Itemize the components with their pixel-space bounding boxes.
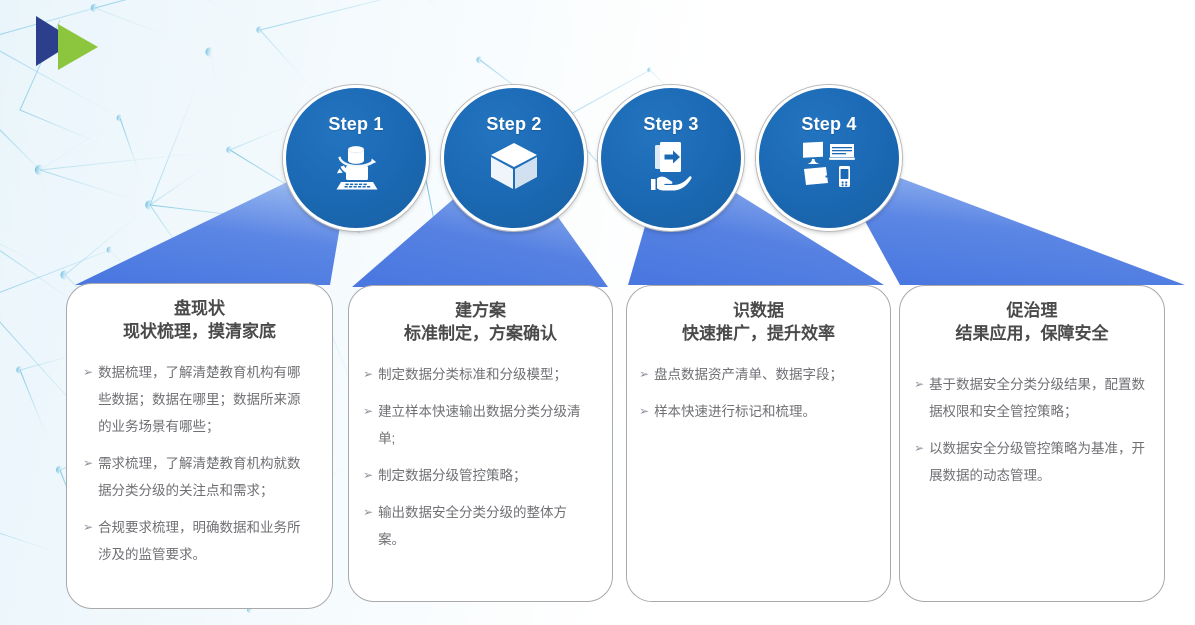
card-title: 盘现状 — [77, 298, 322, 320]
arrow-bullet-icon: ➢ — [363, 462, 373, 489]
multi-devices-icon — [799, 139, 859, 193]
bullet-text: 基于数据安全分类分级结果，配置数据权限和安全管控策略； — [929, 371, 1146, 425]
bullet-text: 以数据安全分级管控策略为基准，开展数据的动态管理。 — [929, 435, 1146, 489]
list-item: ➢ 盘点数据资产清单、数据字段； — [639, 361, 876, 388]
arrow-bullet-icon: ➢ — [363, 398, 373, 425]
step-card-3: 识数据 快速推广，提升效率 ➢ 盘点数据资产清单、数据字段； ➢ 样本快速进行标… — [626, 285, 891, 602]
step-card-2: 建方案 标准制定，方案确认 ➢ 制定数据分类标准和分级模型； ➢ 建立样本快速输… — [348, 285, 613, 602]
list-item: ➢ 数据梳理，了解清楚教育机构有哪些数据；数据在哪里；数据所来源的业务场景有哪些… — [83, 359, 310, 440]
step-circle-4[interactable]: Step 4 — [756, 85, 902, 231]
list-item: ➢ 以数据安全分级管控策略为基准，开展数据的动态管理。 — [914, 435, 1146, 489]
step-label: Step 4 — [801, 114, 856, 135]
bullet-text: 需求梳理，了解清楚教育机构就数据分类分级的关注点和需求； — [98, 450, 310, 504]
list-item: ➢ 需求梳理，了解清楚教育机构就数据分类分级的关注点和需求； — [83, 450, 310, 504]
step-circle-3[interactable]: Step 3 — [598, 85, 744, 231]
card-title: 促治理 — [910, 300, 1154, 322]
list-item: ➢ 建立样本快速输出数据分类分级清单; — [363, 398, 594, 452]
step-label: Step 1 — [328, 114, 383, 135]
card-bullet-list: ➢ 基于数据安全分类分级结果，配置数据权限和安全管控策略； ➢ 以数据安全分级管… — [900, 371, 1164, 489]
arrow-bullet-icon: ➢ — [83, 514, 93, 541]
slide-canvas: Step 1 Ste — [0, 0, 1195, 625]
bullet-text: 制定数据分类标准和分级模型； — [378, 361, 594, 388]
list-item: ➢ 制定数据分级管控策略； — [363, 462, 594, 489]
list-item: ➢ 基于数据安全分类分级结果，配置数据权限和安全管控策略； — [914, 371, 1146, 425]
arrow-bullet-icon: ➢ — [914, 371, 924, 398]
bullet-text: 输出数据安全分类分级的整体方案。 — [378, 499, 594, 553]
step-circle-2[interactable]: Step 2 — [441, 85, 587, 231]
arrow-bullet-icon: ➢ — [639, 361, 649, 388]
bullet-text: 建立样本快速输出数据分类分级清单; — [378, 398, 594, 452]
step-label: Step 2 — [486, 114, 541, 135]
database-laptop-sync-icon — [327, 139, 385, 195]
list-item: ➢ 样本快速进行标记和梳理。 — [639, 398, 876, 425]
bullet-text: 合规要求梳理，明确数据和业务所涉及的监管要求。 — [98, 514, 310, 568]
step-card-1: 盘现状 现状梳理，摸清家底 ➢ 数据梳理，了解清楚教育机构有哪些数据；数据在哪里… — [66, 283, 333, 609]
bullet-text: 盘点数据资产清单、数据字段； — [654, 361, 876, 388]
step-card-4: 促治理 结果应用，保障安全 ➢ 基于数据安全分类分级结果，配置数据权限和安全管控… — [899, 285, 1165, 602]
hand-document-arrow-icon — [642, 139, 700, 195]
list-item: ➢ 合规要求梳理，明确数据和业务所涉及的监管要求。 — [83, 514, 310, 568]
arrow-bullet-icon: ➢ — [83, 359, 93, 386]
list-item: ➢ 制定数据分类标准和分级模型； — [363, 361, 594, 388]
step-circle-1[interactable]: Step 1 — [283, 85, 429, 231]
arrow-bullet-icon: ➢ — [639, 398, 649, 425]
card-subtitle: 快速推广，提升效率 — [635, 323, 882, 345]
bullet-text: 样本快速进行标记和梳理。 — [654, 398, 876, 425]
cube-box-icon — [486, 139, 542, 193]
card-title: 识数据 — [637, 300, 880, 322]
arrow-bullet-icon: ➢ — [363, 361, 373, 388]
card-bullet-list: ➢ 数据梳理，了解清楚教育机构有哪些数据；数据在哪里；数据所来源的业务场景有哪些… — [67, 359, 332, 568]
card-subtitle: 标准制定，方案确认 — [357, 323, 604, 345]
arrow-bullet-icon: ➢ — [83, 450, 93, 477]
step-label: Step 3 — [643, 114, 698, 135]
card-bullet-list: ➢ 制定数据分类标准和分级模型； ➢ 建立样本快速输出数据分类分级清单; ➢ 制… — [349, 361, 612, 553]
list-item: ➢ 输出数据安全分类分级的整体方案。 — [363, 499, 594, 553]
card-subtitle: 现状梳理，摸清家底 — [75, 321, 324, 343]
play-triangles-logo — [32, 14, 110, 70]
bullet-text: 数据梳理，了解清楚教育机构有哪些数据；数据在哪里；数据所来源的业务场景有哪些； — [98, 359, 310, 440]
card-subtitle: 结果应用，保障安全 — [908, 323, 1156, 345]
bullet-text: 制定数据分级管控策略； — [378, 462, 594, 489]
card-title: 建方案 — [359, 300, 602, 322]
card-bullet-list: ➢ 盘点数据资产清单、数据字段； ➢ 样本快速进行标记和梳理。 — [627, 361, 890, 425]
arrow-bullet-icon: ➢ — [363, 499, 373, 526]
arrow-bullet-icon: ➢ — [914, 435, 924, 462]
